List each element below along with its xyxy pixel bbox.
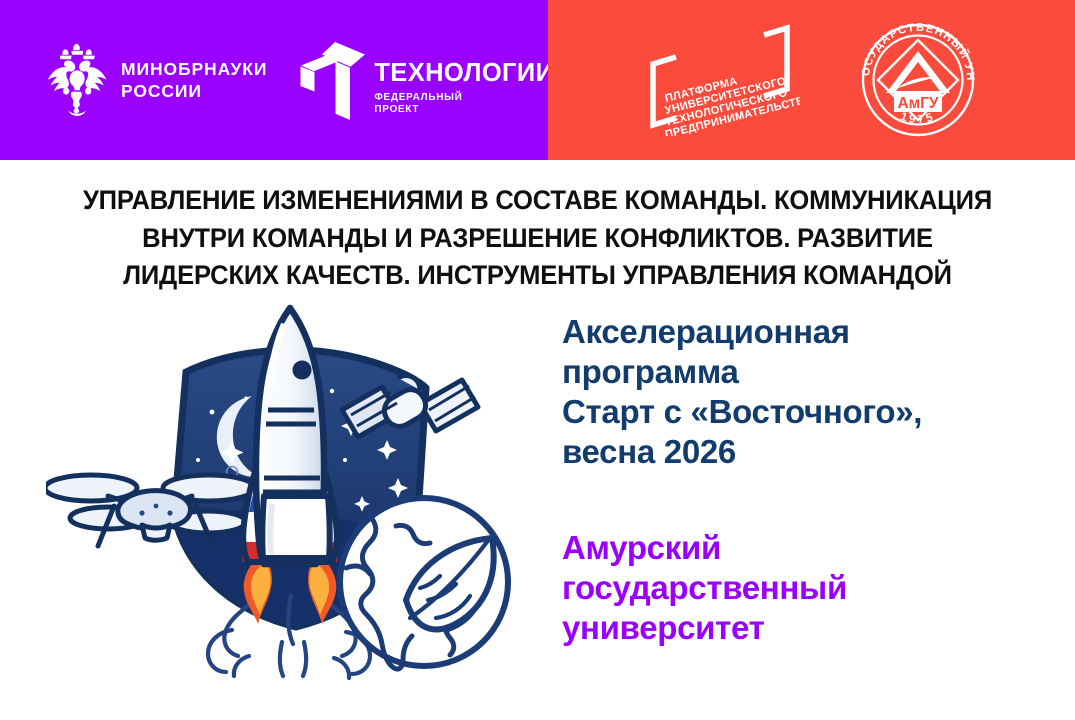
tech-sub-line-1: ФЕДЕРАЛЬНЫЙ bbox=[374, 92, 554, 105]
platform-logo: ПЛАТФОРМА УНИВЕРСИТЕТСКОГО ТЕХНОЛОГИЧЕСК… bbox=[640, 24, 800, 136]
headline-line-1: УПРАВЛЕНИЕ ИЗМЕНЕНИЯМИ В СОСТАВЕ КОМАНДЫ… bbox=[19, 182, 1056, 220]
university-line-3: университет bbox=[562, 608, 1032, 648]
double-headed-eagle-icon bbox=[46, 43, 108, 117]
tech-sub-line-2: ПРОЕКТ bbox=[374, 104, 554, 117]
program-line-4: весна 2026 bbox=[562, 432, 1032, 472]
banner-left-purple: МИНОБРНАУКИ РОССИИ bbox=[0, 0, 548, 160]
tech-arrow-mark-icon bbox=[299, 41, 367, 121]
headline-line-2: ВНУТРИ КОМАНДЫ И РАЗРЕШЕНИЕ КОНФЛИКТОВ. … bbox=[19, 220, 1056, 258]
program-line-1: Акселерационная bbox=[562, 312, 1032, 352]
tech-project-title: ТЕХНОЛОГИИ bbox=[374, 61, 554, 87]
university-line-1: Амурский bbox=[562, 528, 1032, 568]
amgu-monogram: АмГУ bbox=[897, 95, 938, 112]
program-line-2: программа bbox=[562, 352, 1032, 392]
headline-line-3: ЛИДЕРСКИХ КАЧЕСТВ. ИНСТРУМЕНТЫ УПРАВЛЕНИ… bbox=[19, 257, 1056, 295]
ministry-line-1: МИНОБРНАУКИ bbox=[121, 58, 267, 80]
header-banner: МИНОБРНАУКИ РОССИИ bbox=[0, 0, 1075, 160]
slide-headline: УПРАВЛЕНИЕ ИЗМЕНЕНИЯМИ В СОСТАВЕ КОМАНДЫ… bbox=[19, 182, 1056, 295]
ministry-label: МИНОБРНАУКИ РОССИИ bbox=[121, 58, 267, 103]
rocket-window-icon bbox=[293, 361, 312, 380]
slide-root: МИНОБРНАУКИ РОССИИ bbox=[0, 0, 1075, 720]
ministry-logo: МИНОБРНАУКИ РОССИИ bbox=[46, 43, 267, 117]
amgu-seal-logo: АМУРСКИЙ ГОСУДАРСТВЕННЫЙ УНИВЕРСИТЕТ 197… bbox=[856, 18, 980, 142]
tech-project-subtitle: ФЕДЕРАЛЬНЫЙ ПРОЕКТ bbox=[374, 92, 554, 117]
program-line-3: Старт с «Восточного», bbox=[562, 392, 1032, 432]
rocket-launch-illustration bbox=[46, 300, 536, 685]
tech-project-logo: ТЕХНОЛОГИИ ФЕДЕРАЛЬНЫЙ ПРОЕКТ bbox=[299, 39, 554, 121]
tech-project-label: ТЕХНОЛОГИИ ФЕДЕРАЛЬНЫЙ ПРОЕКТ bbox=[374, 39, 554, 117]
university-name-block: Амурский государственный университет bbox=[562, 528, 1032, 648]
ministry-line-2: РОССИИ bbox=[121, 80, 267, 102]
globe-leaf-icon bbox=[340, 498, 508, 669]
rocket-icon bbox=[256, 308, 330, 564]
university-line-2: государственный bbox=[562, 568, 1032, 608]
banner-right-red: ПЛАТФОРМА УНИВЕРСИТЕТСКОГО ТЕХНОЛОГИЧЕСК… bbox=[548, 0, 1075, 160]
program-title-block: Акселерационная программа Старт с «Восто… bbox=[562, 312, 1032, 472]
